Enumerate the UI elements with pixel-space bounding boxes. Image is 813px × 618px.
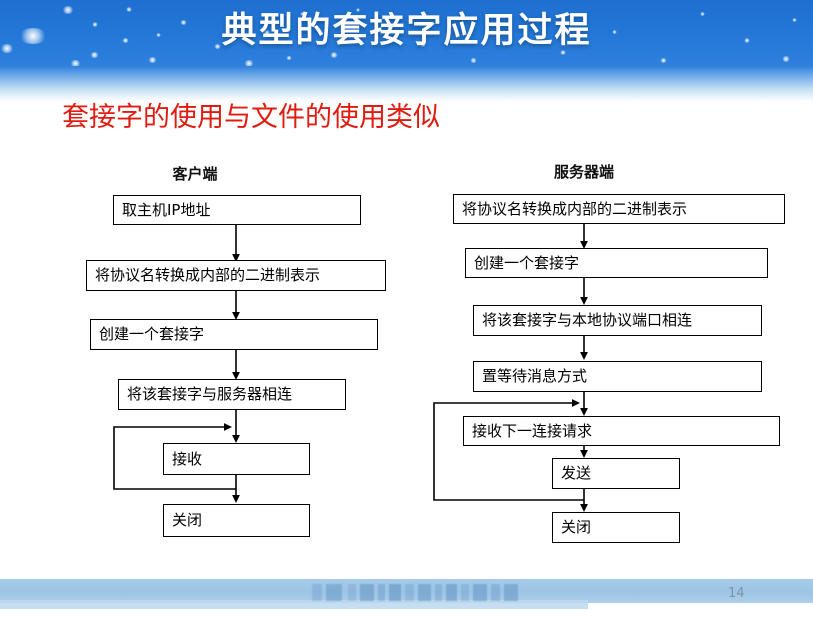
- flow-node-server-4[interactable]: 置等待消息方式: [473, 361, 762, 392]
- flow-node-client-1[interactable]: 取主机IP地址: [113, 195, 361, 225]
- slide-canvas: 典型的套接字应用过程 套接字的使用与文件的使用类似: [0, 0, 813, 618]
- column-label-server: 服务器端: [533, 161, 635, 182]
- flow-node-server-5[interactable]: 接收下一连接请求: [463, 416, 780, 446]
- flow-node-client-5[interactable]: 接收: [163, 443, 310, 475]
- column-label-client: 客户端: [145, 163, 245, 184]
- flowchart: 客户端 取主机IP地址 将协议名转换成内部的二进制表示 创建一个套接字 将该套接…: [0, 0, 813, 618]
- flow-node-client-3[interactable]: 创建一个套接字: [90, 319, 378, 350]
- flow-node-server-2[interactable]: 创建一个套接字: [465, 248, 768, 278]
- footer-watermark: [312, 584, 524, 601]
- flow-node-client-6[interactable]: 关闭: [163, 504, 310, 537]
- flow-node-client-2[interactable]: 将协议名转换成内部的二进制表示: [86, 260, 386, 291]
- flow-node-client-4[interactable]: 将该套接字与服务器相连: [118, 379, 346, 410]
- flow-node-server-3[interactable]: 将该套接字与本地协议端口相连: [473, 305, 762, 336]
- flow-node-server-6[interactable]: 发送: [552, 458, 680, 489]
- flow-node-server-7[interactable]: 关闭: [552, 512, 680, 543]
- flow-node-server-1[interactable]: 将协议名转换成内部的二进制表示: [453, 194, 785, 224]
- footer-bar-accent: [0, 600, 588, 609]
- page-number: 14: [728, 586, 745, 601]
